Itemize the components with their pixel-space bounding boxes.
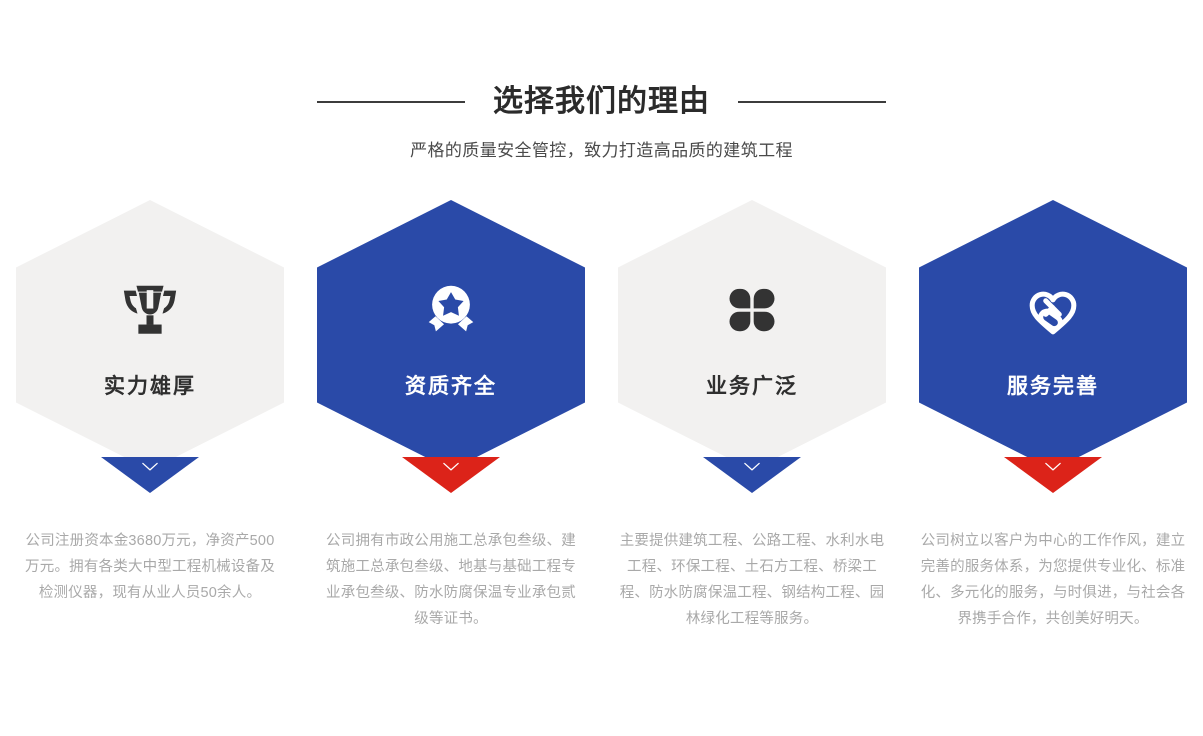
divider-right-icon: [738, 101, 886, 103]
section-heading: 选择我们的理由 严格的质量安全管控，致力打造高品质的建筑工程: [0, 78, 1203, 164]
hexagon-tile[interactable]: 服务完善: [919, 200, 1187, 470]
hexagon-wrapper[interactable]: 资质齐全: [317, 200, 585, 490]
chevron-down-icon: [442, 462, 460, 472]
chevron-down-icon: [743, 462, 761, 472]
hexagon-tile[interactable]: 资质齐全: [317, 200, 585, 470]
trophy-icon: [102, 262, 198, 358]
hexagon-wrapper[interactable]: 业务广泛: [618, 200, 886, 490]
hexagon-tile[interactable]: 业务广泛: [618, 200, 886, 470]
hexagon-tile[interactable]: 实力雄厚: [16, 200, 284, 470]
page-title: 选择我们的理由: [493, 82, 710, 122]
feature-card[interactable]: 服务完善 公司树立以客户为中心的工作作风，建立完善的服务体系，为您提供专业化、标…: [903, 200, 1203, 632]
feature-card-label: 业务广泛: [706, 372, 798, 402]
feature-card[interactable]: 资质齐全 公司拥有市政公用施工总承包叁级、建筑施工总承包叁级、地基与基础工程专业…: [301, 200, 601, 632]
hexagon-wrapper[interactable]: 服务完善: [919, 200, 1187, 490]
feature-card-description: 公司注册资本金3680万元，净资产500万元。拥有各类大中型工程机械设备及检测仪…: [19, 528, 281, 606]
chevron-down-icon: [1044, 462, 1062, 472]
feature-card[interactable]: 实力雄厚 公司注册资本金3680万元，净资产500万元。拥有各类大中型工程机械设…: [0, 200, 300, 606]
chevron-down-icon: [141, 462, 159, 472]
feature-card-description: 公司拥有市政公用施工总承包叁级、建筑施工总承包叁级、地基与基础工程专业承包叁级、…: [320, 528, 582, 632]
feature-card-label: 资质齐全: [405, 372, 497, 402]
card-badge-arrow[interactable]: [101, 457, 199, 493]
section-subtitle: 严格的质量安全管控，致力打造高品质的建筑工程: [0, 138, 1203, 164]
feature-card-label: 服务完善: [1007, 372, 1099, 402]
hexagon-wrapper[interactable]: 实力雄厚: [16, 200, 284, 490]
award-medal-icon: [403, 262, 499, 358]
feature-card-description: 公司树立以客户为中心的工作作风，建立完善的服务体系，为您提供专业化、标准化、多元…: [919, 528, 1187, 632]
card-badge-arrow[interactable]: [402, 457, 500, 493]
card-badge-arrow[interactable]: [1004, 457, 1102, 493]
heading-row: 选择我们的理由: [0, 78, 1203, 126]
heart-handshake-icon: [1005, 262, 1101, 358]
four-petal-clover-icon: [704, 262, 800, 358]
card-badge-arrow[interactable]: [703, 457, 801, 493]
feature-card-label: 实力雄厚: [104, 372, 196, 402]
why-choose-us-section: 选择我们的理由 严格的质量安全管控，致力打造高品质的建筑工程: [0, 0, 1203, 736]
feature-card[interactable]: 业务广泛 主要提供建筑工程、公路工程、水利水电工程、环保工程、土石方工程、桥梁工…: [602, 200, 902, 632]
feature-card-list: 实力雄厚 公司注册资本金3680万元，净资产500万元。拥有各类大中型工程机械设…: [0, 200, 1203, 632]
divider-left-icon: [317, 101, 465, 103]
feature-card-description: 主要提供建筑工程、公路工程、水利水电工程、环保工程、土石方工程、桥梁工程、防水防…: [618, 528, 886, 632]
